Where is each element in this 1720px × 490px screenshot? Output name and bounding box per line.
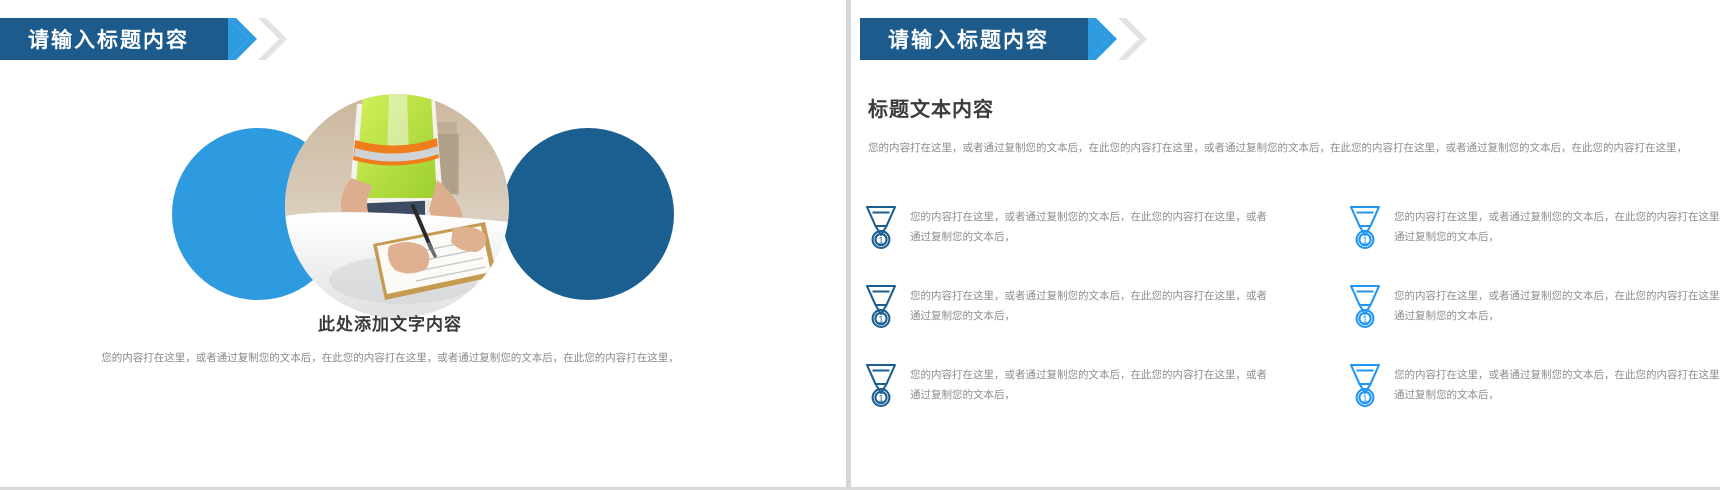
feature-text: 您的内容打在这里，或者通过复制您的文本后，在此您的内容打在这里，或者通过复制您的…: [1394, 282, 1720, 326]
dark-blue-circle: [502, 128, 674, 300]
left-banner-bar: 请输入标题内容: [0, 18, 228, 60]
left-banner-title: 请输入标题内容: [28, 24, 189, 54]
medal-icon: 1: [1348, 362, 1382, 408]
medal-icon: 1: [1348, 283, 1382, 329]
right-banner-bar: 请输入标题内容: [860, 18, 1088, 60]
feature-text: 您的内容打在这里，或者通过复制您的文本后，在此您的内容打在这里，或者通过复制您的…: [1394, 203, 1720, 247]
medal-icon: 1: [864, 283, 898, 329]
slide-left: 请输入标题内容: [0, 0, 860, 490]
right-heading: 标题文本内容: [868, 93, 994, 122]
feature-item: 1 您的内容打在这里，或者通过复制您的文本后，在此您的内容打在这里，或者通过复制…: [864, 282, 1276, 329]
right-banner-chevron-blue-icon: [1088, 18, 1118, 60]
feature-item: 1 您的内容打在这里，或者通过复制您的文本后，在此您的内容打在这里，或者通过复制…: [1348, 203, 1720, 250]
medal-rank-label: 1: [1362, 235, 1367, 245]
right-intro-text: 您的内容打在这里，或者通过复制您的文本后，在此您的内容打在这里，或者通过复制您的…: [868, 138, 1720, 159]
feature-text: 您的内容打在这里，或者通过复制您的文本后，在此您的内容打在这里，或者通过复制您的…: [1394, 361, 1720, 405]
medal-rank-label: 1: [1362, 314, 1367, 324]
circle-cluster: [172, 110, 652, 310]
feature-text: 您的内容打在这里，或者通过复制您的文本后，在此您的内容打在这里，或者通过复制您的…: [910, 361, 1276, 405]
medal-rank-label: 1: [1362, 393, 1367, 403]
right-title-banner: 请输入标题内容: [860, 18, 1148, 60]
feature-item: 1 您的内容打在这里，或者通过复制您的文本后，在此您的内容打在这里，或者通过复制…: [864, 203, 1276, 250]
left-body-text: 您的内容打在这里，或者通过复制您的文本后，在此您的内容打在这里，或者通过复制您的…: [40, 348, 740, 368]
feature-grid: 1 您的内容打在这里，或者通过复制您的文本后，在此您的内容打在这里，或者通过复制…: [864, 203, 1720, 408]
slide-divider: [846, 0, 851, 490]
medal-rank-label: 1: [878, 235, 883, 245]
feature-item: 1 您的内容打在这里，或者通过复制您的文本后，在此您的内容打在这里，或者通过复制…: [1348, 282, 1720, 329]
feature-item: 1 您的内容打在这里，或者通过复制您的文本后，在此您的内容打在这里，或者通过复制…: [864, 361, 1276, 408]
medal-icon: 1: [1348, 204, 1382, 250]
feature-item: 1 您的内容打在这里，或者通过复制您的文本后，在此您的内容打在这里，或者通过复制…: [1348, 361, 1720, 408]
feature-text: 您的内容打在这里，或者通过复制您的文本后，在此您的内容打在这里，或者通过复制您的…: [910, 282, 1276, 326]
banner-chevron-blue-icon: [228, 18, 258, 60]
feature-text: 您的内容打在这里，或者通过复制您的文本后，在此您的内容打在这里，或者通过复制您的…: [910, 203, 1276, 247]
left-caption: 此处添加文字内容: [0, 310, 780, 335]
medal-rank-label: 1: [878, 314, 883, 324]
left-title-banner: 请输入标题内容: [0, 18, 288, 60]
banner-chevron-gray-icon: [258, 18, 288, 60]
worker-photo: [285, 94, 509, 318]
medal-rank-label: 1: [878, 393, 883, 403]
medal-icon: 1: [864, 362, 898, 408]
right-banner-chevron-gray-icon: [1118, 18, 1148, 60]
slide-deck: 请输入标题内容: [0, 0, 1720, 490]
medal-icon: 1: [864, 204, 898, 250]
right-banner-title: 请输入标题内容: [888, 24, 1049, 54]
photo-circle: [285, 94, 509, 318]
slide-right: 请输入标题内容 标题文本内容 您的内容打在这里，或者通过复制您的文本后，在此您的…: [860, 0, 1720, 490]
